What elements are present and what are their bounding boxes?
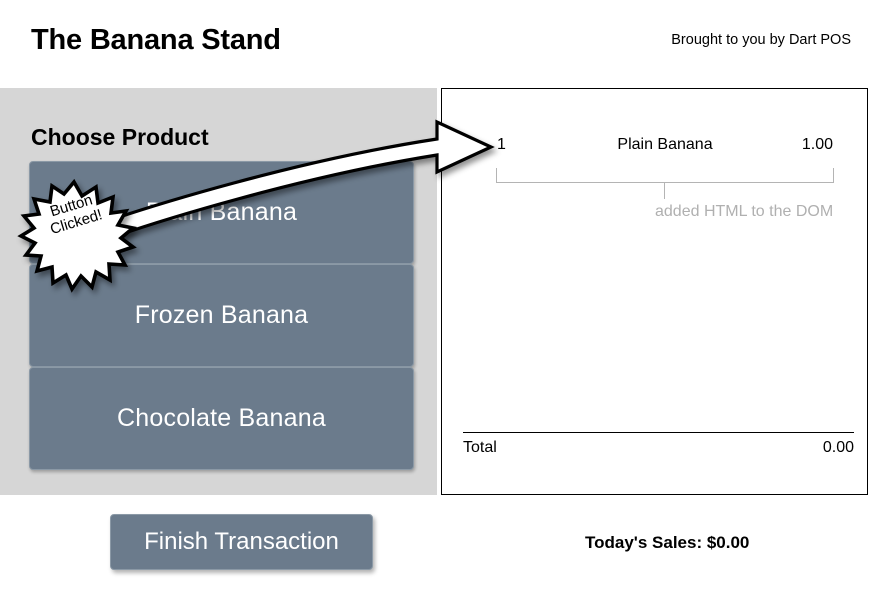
product-button-chocolate-banana[interactable]: Chocolate Banana [29, 367, 414, 470]
dom-annotation-brace [496, 168, 834, 183]
receipt-total-value: 0.00 [823, 439, 854, 457]
choose-product-heading: Choose Product [31, 124, 209, 151]
product-button-frozen-banana[interactable]: Frozen Banana [29, 264, 414, 367]
dom-annotation-label: added HTML to the DOM [655, 203, 833, 221]
todays-sales-text: Today's Sales: $0.00 [585, 533, 749, 553]
receipt-total-label: Total [463, 439, 497, 457]
dom-annotation-stem [664, 183, 665, 199]
attribution-text: Brought to you by Dart POS [671, 32, 851, 48]
product-button-label: Frozen Banana [135, 301, 309, 330]
receipt-total-divider [463, 432, 854, 433]
receipt-line-name: Plain Banana [497, 136, 833, 154]
receipt-line-price: 1.00 [802, 136, 833, 154]
page-title: The Banana Stand [31, 24, 281, 57]
finish-transaction-label: Finish Transaction [144, 528, 339, 556]
receipt-line-item: 1 Plain Banana 1.00 [497, 136, 833, 158]
finish-transaction-button[interactable]: Finish Transaction [110, 514, 373, 570]
receipt-total-row: Total 0.00 [463, 439, 854, 461]
product-button-label: Plain Banana [146, 198, 297, 227]
product-button-label: Chocolate Banana [117, 404, 326, 433]
